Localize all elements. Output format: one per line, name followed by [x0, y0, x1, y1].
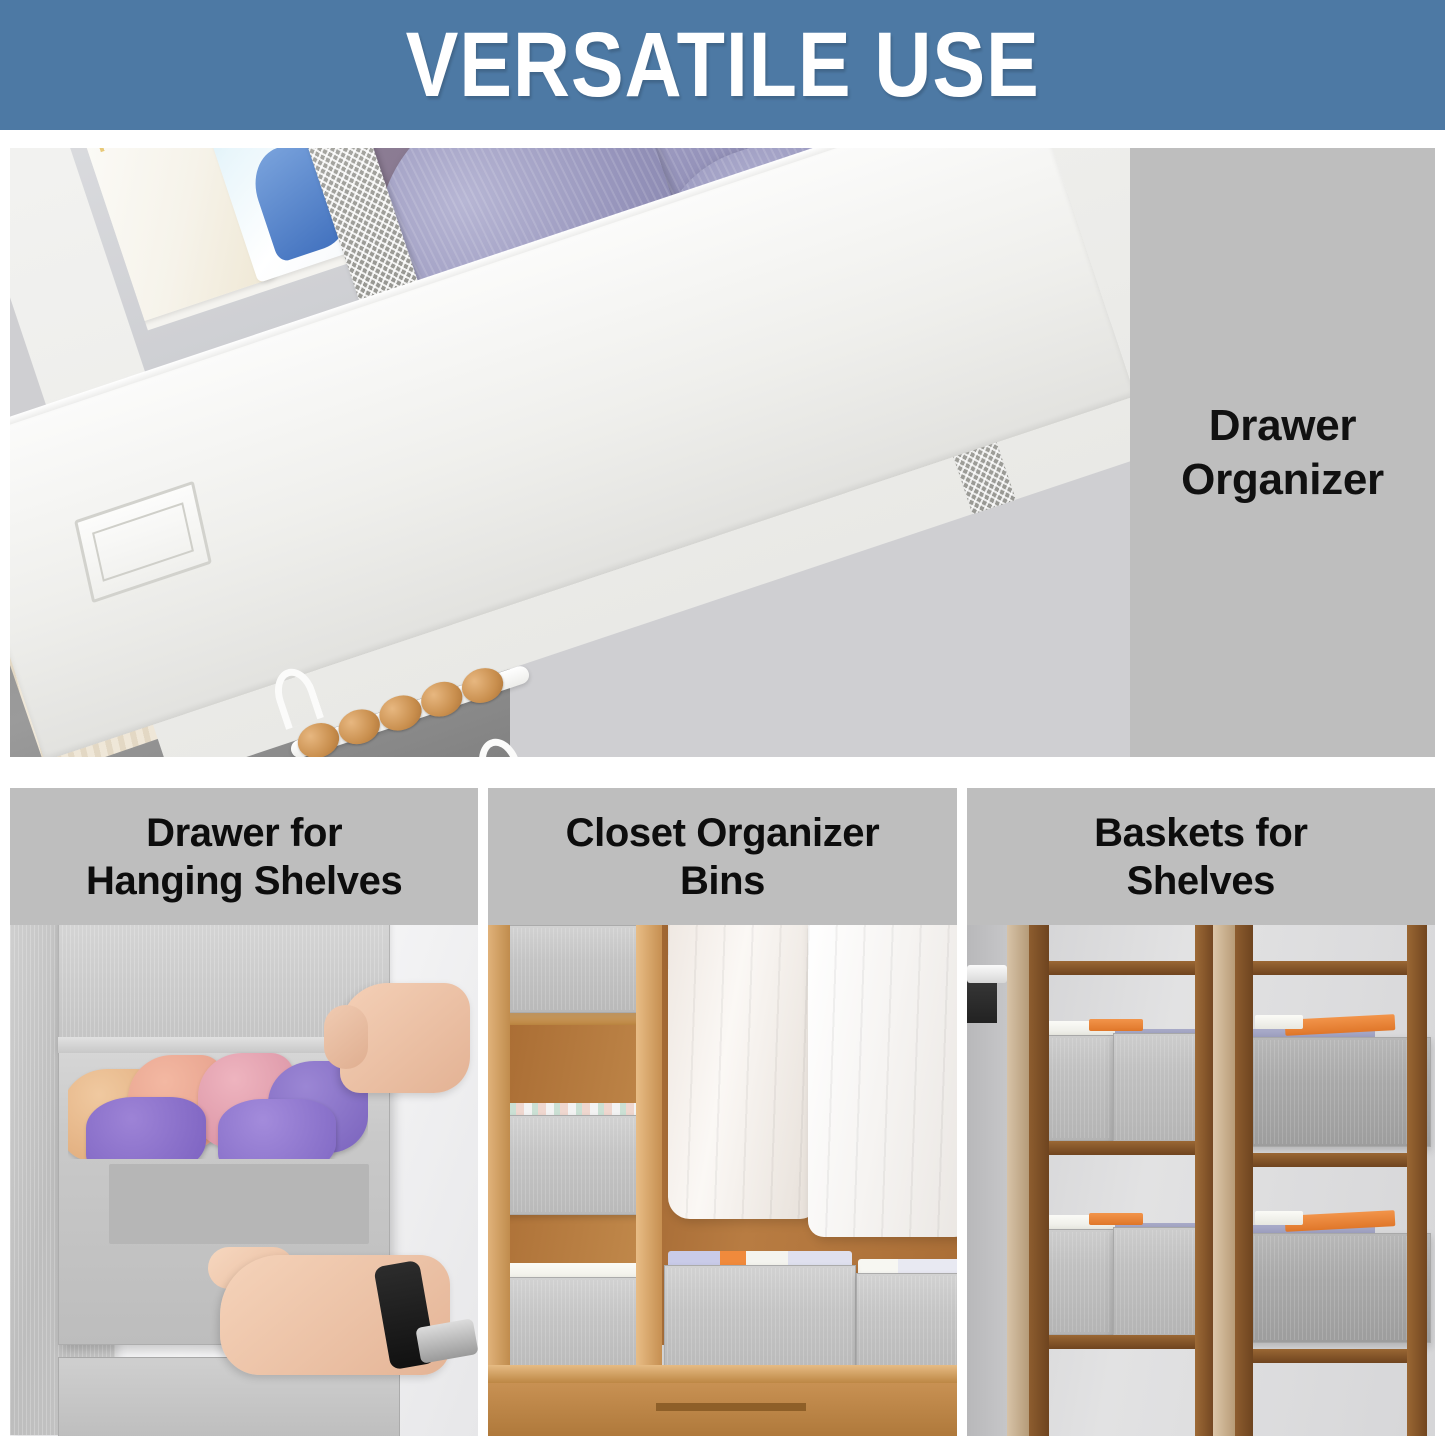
- hero-section: Drawer Organizer: [10, 148, 1435, 757]
- drawer-seam: [109, 1164, 369, 1244]
- hero-label-line2: Organizer: [1181, 453, 1384, 507]
- organizer-bin: [664, 1265, 856, 1379]
- panel-label-line1: Drawer for: [146, 809, 342, 857]
- shelf-post: [1213, 925, 1235, 1436]
- shelf-baskets-photo: [967, 925, 1435, 1436]
- shelf: [488, 1365, 956, 1383]
- panel-label: Closet Organizer Bins: [488, 788, 956, 925]
- organizer-bin: [498, 1277, 652, 1379]
- panel-label-line2: Hanging Shelves: [86, 857, 402, 905]
- page-title: VERSATILE USE: [406, 19, 1040, 111]
- closet-post: [488, 925, 510, 1436]
- folded-clothes: [1089, 1213, 1143, 1225]
- shelf-rail: [1235, 1349, 1427, 1363]
- shelf-basket: [1239, 1037, 1431, 1147]
- hanging-shirt: [668, 925, 818, 1219]
- panel-label: Baskets for Shelves: [967, 788, 1435, 925]
- organizer-bin: [498, 925, 648, 1013]
- drawer-organizer-photo: [10, 148, 1130, 757]
- shelf-post: [1195, 925, 1213, 1436]
- shelf-rail: [1235, 961, 1427, 975]
- panel-label: Drawer for Hanging Shelves: [10, 788, 478, 925]
- panel-label-line2: Bins: [680, 857, 765, 905]
- shelf-post: [1407, 925, 1427, 1436]
- closet-bins-photo: [488, 925, 956, 1436]
- organizer-bin: [856, 1273, 956, 1375]
- bra-item: [218, 1099, 336, 1159]
- hanging-shelf-drawer-photo: [10, 925, 478, 1436]
- panel-drawer-for-hanging-shelves: Drawer for Hanging Shelves: [10, 788, 478, 1436]
- shelf-basket: [1239, 1233, 1431, 1343]
- shelf-post: [1007, 925, 1029, 1436]
- panel-label-line2: Shelves: [1127, 857, 1275, 905]
- organizer-bin: [498, 1115, 652, 1215]
- bra-item: [86, 1097, 206, 1159]
- panel-closet-organizer-bins: Closet Organizer Bins: [488, 788, 956, 1436]
- panel-baskets-for-shelves: Baskets for Shelves: [967, 788, 1435, 1436]
- panel-label-line1: Baskets for: [1094, 809, 1307, 857]
- header-banner: VERSATILE USE: [0, 0, 1445, 130]
- hanging-shirt: [808, 925, 956, 1237]
- shelf-rail: [1235, 1153, 1427, 1167]
- hero-label: Drawer Organizer: [1130, 148, 1435, 757]
- panel-label-line1: Closet Organizer: [566, 809, 880, 857]
- folded-clothes: [1089, 1019, 1143, 1031]
- shelf-rail: [1029, 1335, 1209, 1349]
- base-drawer-gap: [656, 1403, 806, 1411]
- panel-row: Drawer for Hanging Shelves: [10, 788, 1435, 1436]
- shelf-post: [1235, 925, 1253, 1436]
- closet-post: [636, 925, 662, 1436]
- shelf-rail: [1029, 961, 1209, 975]
- folded-clothes: [1255, 1015, 1303, 1029]
- hand-upper: [340, 983, 470, 1093]
- wall-bracket: [967, 965, 1007, 983]
- shelf-rail: [1029, 1141, 1209, 1155]
- bras-in-drawer: [68, 1047, 368, 1159]
- hero-label-line1: Drawer: [1209, 399, 1356, 453]
- shelf-post: [1029, 925, 1049, 1436]
- folded-clothes: [1255, 1211, 1303, 1225]
